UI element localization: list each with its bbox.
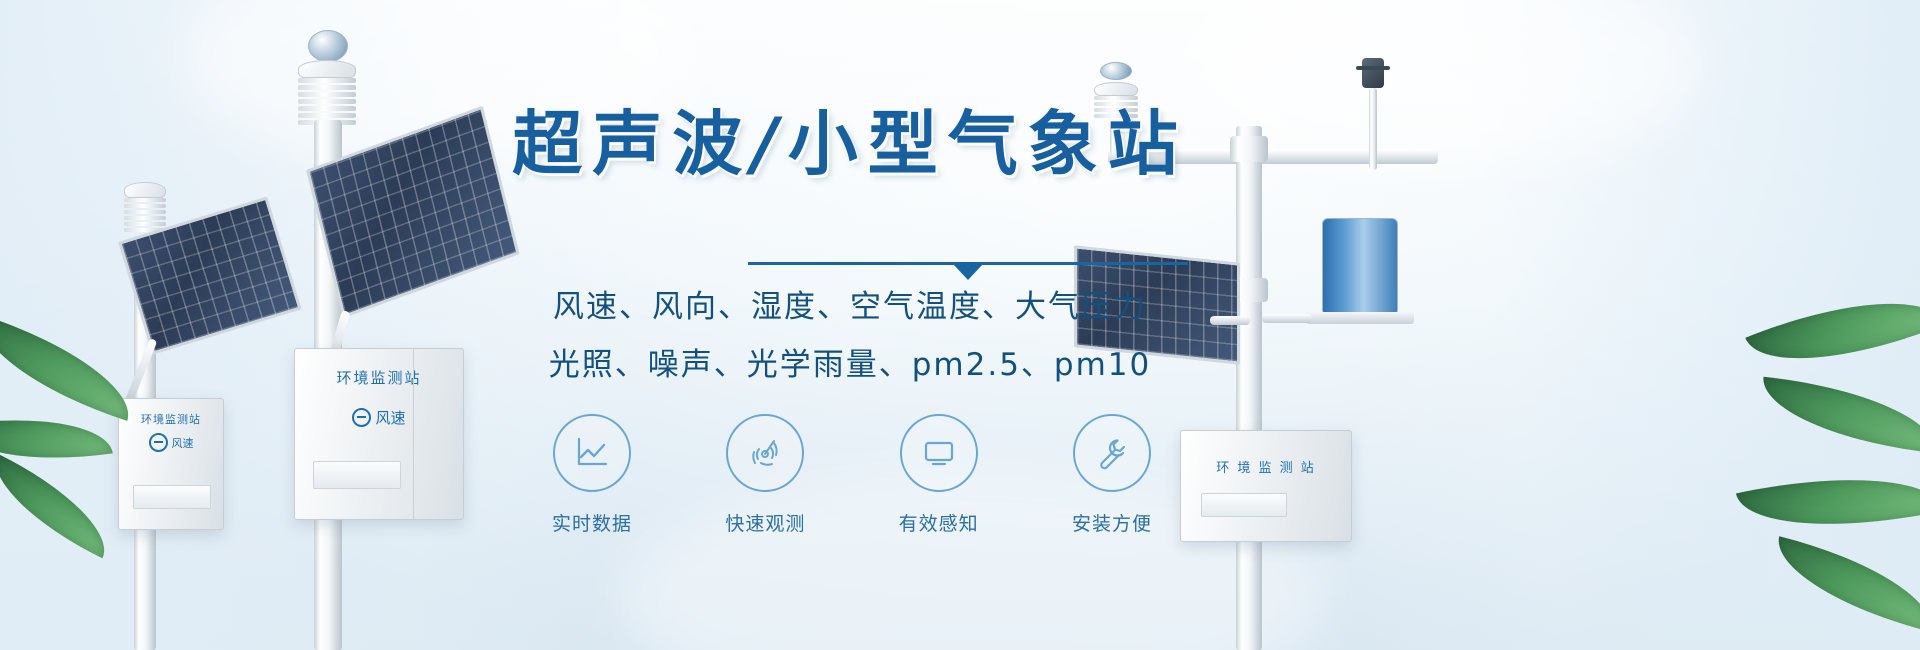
sensor-fin — [124, 198, 166, 202]
right-sensor-cap — [1094, 82, 1138, 96]
center-cabinet-vent — [313, 461, 401, 489]
anemometer-head — [1362, 58, 1384, 88]
page-title: 超声波/小型气象站 — [430, 96, 1270, 192]
feature-item-realtime-data[interactable]: 实时数据 — [522, 414, 662, 536]
sensor-fin — [298, 113, 356, 118]
leaf-shape — [1757, 377, 1920, 453]
left-sensor-cap — [124, 182, 166, 198]
sensor-fin — [298, 106, 356, 111]
divider-triangle-icon — [954, 265, 982, 280]
leaf-shape — [1736, 452, 1920, 552]
feature-icon-circle — [900, 414, 978, 492]
product-banner: 环境监测站 风速 环境监测站 — [0, 0, 1920, 650]
feature-icon-circle — [1073, 414, 1151, 492]
brand-logo-icon — [352, 408, 371, 427]
leaf-bottom-right — [1740, 300, 1920, 630]
wrench-icon — [1092, 433, 1132, 473]
feature-label: 有效感知 — [899, 509, 979, 536]
feature-item-effective-sensing[interactable]: 有效感知 — [869, 414, 1009, 536]
sensor-fin — [124, 204, 166, 208]
sensor-fin — [298, 92, 356, 97]
headline-part-1: 超声波 — [512, 103, 752, 185]
banner-content: 超声波/小型气象站 风速、风向、湿度、空气温度、大气压力 光照、噪声、光学雨量、… — [430, 96, 1270, 516]
leaf-shape — [0, 315, 144, 421]
leaf-shape — [0, 454, 123, 559]
monitor-icon — [919, 433, 959, 473]
feature-item-easy-installation[interactable]: 安装方便 — [1042, 414, 1182, 536]
right-sensor-dome — [1100, 62, 1132, 80]
subtitle-line-1: 风速、风向、湿度、空气温度、大气压力 — [430, 286, 1270, 328]
sensor-fin — [124, 216, 166, 220]
leaf-shape — [1766, 536, 1920, 631]
center-sensor-head — [298, 60, 356, 127]
sensor-fin — [298, 85, 356, 90]
feature-icon-circle — [726, 414, 804, 492]
line-chart-icon — [572, 433, 612, 473]
headline-slash: / — [752, 103, 788, 185]
feature-list: 实时数据 快速观测 — [522, 414, 1182, 536]
right-rain-gauge — [1322, 218, 1398, 316]
brand-text: 风速 — [375, 407, 405, 428]
radar-signal-icon — [745, 433, 785, 473]
sensor-fin — [298, 99, 356, 104]
feature-label: 实时数据 — [552, 509, 632, 536]
sensor-fin — [124, 210, 166, 214]
center-dome-sensor — [308, 30, 348, 62]
rain-gauge-shelf — [1306, 312, 1414, 324]
feature-item-fast-observation[interactable]: 快速观测 — [695, 414, 835, 536]
subtitle-line-2: 光照、噪声、光学雨量、pm2.5、pm10 — [430, 344, 1270, 386]
anemometer-stem — [1369, 88, 1377, 170]
sensor-fin — [124, 222, 166, 226]
anemometer-vane — [1356, 66, 1390, 70]
feature-icon-circle — [553, 414, 631, 492]
feature-label: 安装方便 — [1072, 509, 1152, 536]
center-sensor-cap — [298, 60, 356, 78]
leaf-bottom-left — [0, 330, 180, 570]
right-anemometer — [1356, 58, 1390, 154]
left-sensor-head — [124, 182, 166, 234]
sensor-fin — [298, 78, 356, 83]
headline-part-2: 小型气象站 — [788, 103, 1188, 185]
feature-label: 快速观测 — [725, 509, 805, 536]
title-divider — [748, 262, 1188, 280]
center-cabinet-door-seam — [413, 349, 414, 519]
